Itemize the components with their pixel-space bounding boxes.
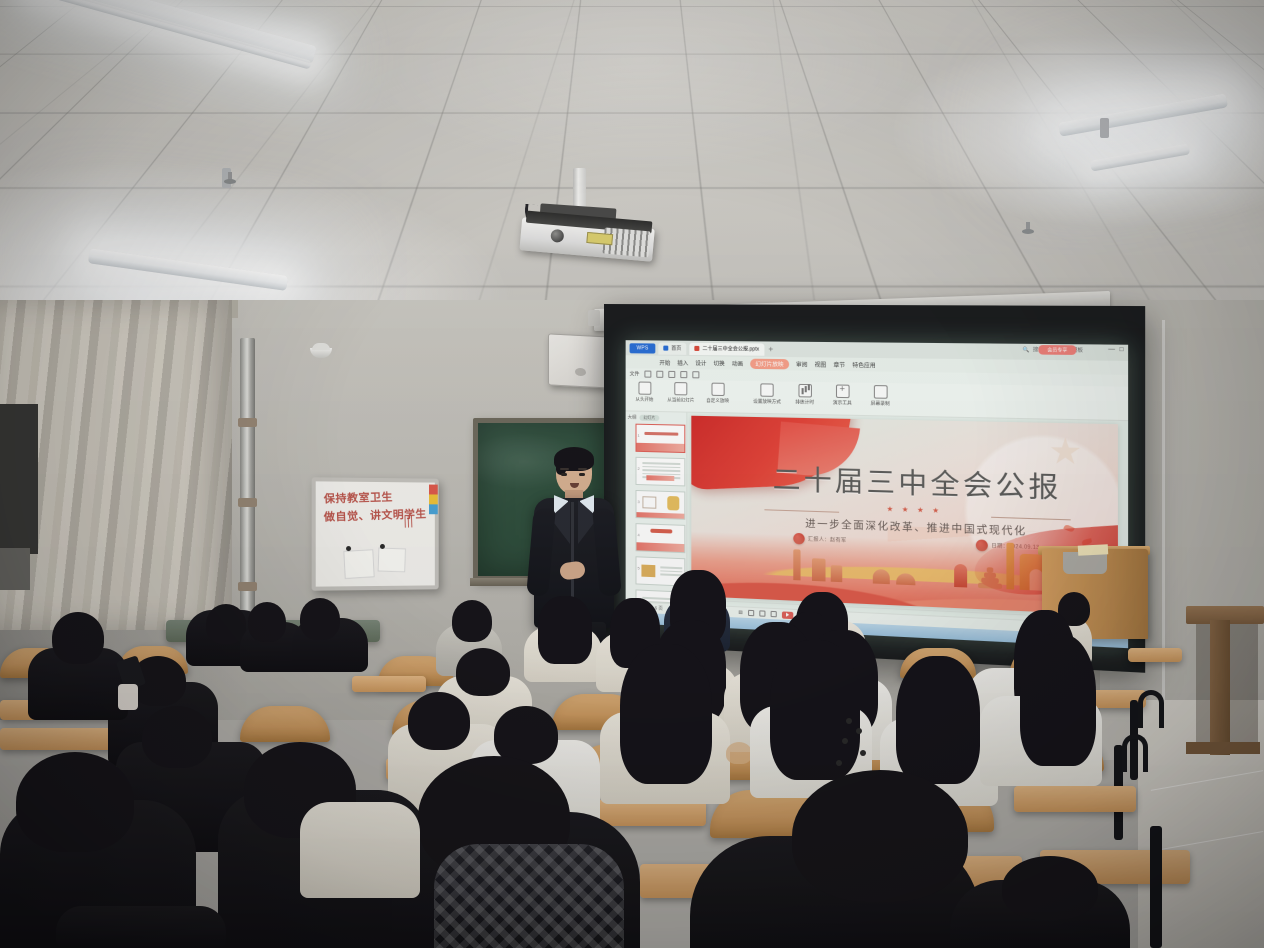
student-pattern-c1 (726, 742, 752, 764)
student-head-f7 (206, 604, 246, 644)
thumb-num-4: 4 (637, 532, 639, 537)
ribbon-play-from-start[interactable]: 从头开始 (632, 381, 658, 403)
thumb-num-5: 5 (637, 565, 639, 570)
menu-item-insert[interactable]: 插入 (677, 358, 688, 366)
projector-label (586, 232, 613, 245)
wall-panel-lower (0, 548, 30, 590)
format-painter-icon[interactable] (692, 371, 699, 378)
thumb-4-title (650, 529, 672, 534)
tab-home[interactable]: 首页 (658, 342, 686, 354)
student-hair-c3 (896, 656, 980, 784)
student-body-d6 (56, 906, 226, 948)
wps-logo: WPS (630, 343, 656, 353)
slide-monument-1 (793, 549, 800, 580)
slide-monument-4 (873, 569, 890, 584)
screen-housing-endcap (588, 310, 600, 326)
student-hand-b7 (118, 684, 138, 710)
student-head-b5 (456, 648, 510, 696)
wall-dark-panel (0, 404, 38, 554)
new-tab-button[interactable]: + (768, 345, 773, 354)
side-table-leg (1210, 620, 1230, 755)
thumb-num-2: 2 (637, 466, 639, 471)
view-reading-icon[interactable] (759, 610, 765, 616)
maximize-button[interactable]: □ (1119, 347, 1123, 353)
dome-camera-icon (310, 343, 332, 357)
quick-label: 文件 (630, 370, 640, 377)
thumbnail-slide-4[interactable]: 4 (636, 523, 686, 553)
menu-item-start[interactable]: 开始 (659, 358, 670, 366)
student-hair-c4 (1020, 634, 1096, 766)
custom-show-icon (711, 383, 724, 396)
ribbon-screen-record[interactable]: 屏幕录制 (866, 385, 894, 407)
pipe-band-icon-3 (238, 582, 257, 591)
ribbon-label-1: 从当前幻灯片 (667, 397, 694, 404)
thumb-3-banner (636, 512, 684, 519)
slides-tab[interactable]: 幻灯片 (639, 415, 659, 421)
menu-item-slideshow[interactable]: 幻灯片放映 (750, 358, 789, 369)
student-head-f8 (248, 602, 286, 642)
presenter-tools-icon (835, 384, 849, 398)
window-controls[interactable]: — □ (1108, 347, 1123, 354)
ribbon-label-6: 屏幕录制 (871, 401, 890, 408)
thumb-3-image (642, 496, 656, 509)
pipe-band-icon-1 (238, 418, 257, 427)
student-head-d5 (1002, 856, 1098, 920)
menu-item-transition[interactable]: 切换 (714, 359, 725, 367)
side-table-base (1186, 742, 1260, 754)
whiteboard-notice-1 (343, 549, 374, 579)
presenter-eye-left (561, 473, 567, 476)
desk-left-3 (352, 676, 426, 692)
menu-item-view[interactable]: 视图 (815, 360, 826, 368)
thumbnail-slide-1[interactable]: 1 (636, 424, 686, 453)
ribbon-label-2: 自定义放映 (706, 398, 729, 405)
undo-icon[interactable] (644, 371, 651, 378)
fire-sprinkler-icon-2 (1022, 222, 1034, 236)
rehearse-timing-icon (798, 384, 811, 398)
ribbon-presenter-tools[interactable]: 演示工具 (829, 384, 856, 406)
outline-tab[interactable]: 大纲 (628, 414, 637, 420)
thumb-1-title (644, 432, 678, 436)
presenter-eye-right (579, 473, 585, 476)
ribbon-rehearse-timing[interactable]: 排练计时 (791, 384, 818, 406)
seat-back-b1 (240, 706, 330, 742)
thumbnail-slide-2[interactable]: 2 (636, 457, 686, 487)
thumb-4-banner (636, 542, 684, 552)
desk-d-right (1014, 786, 1136, 812)
ribbon-setup-show[interactable]: 设置放映方式 (753, 383, 781, 405)
menu-item-animation[interactable]: 动画 (732, 359, 743, 367)
thumbnail-panel-header: 大纲 幻灯片 (628, 414, 685, 421)
menu-item-design[interactable]: 设计 (695, 359, 706, 367)
slide-thumbnail-panel[interactable]: 大纲 幻灯片 1 2 3 (626, 411, 688, 603)
presenter-brow-left (560, 468, 569, 470)
student-head-c6 (142, 706, 212, 768)
thumb-3-figure (667, 496, 679, 511)
home-icon (663, 346, 668, 351)
desk-a-right (1128, 648, 1182, 662)
student-hair-c1 (620, 644, 712, 784)
student-head-f6 (452, 600, 492, 642)
menu-item-section[interactable]: 章节 (833, 360, 845, 368)
slide-monument-2 (812, 558, 826, 581)
ribbon-label-3: 设置放映方式 (753, 399, 781, 406)
slide-title: 二十届三中全会公报 (742, 466, 1095, 504)
whiteboard: 保持教室卫生 做自觉、讲文明学生 ||| (312, 477, 439, 590)
save-icon[interactable] (668, 371, 675, 378)
student-paw-print-pattern (846, 718, 852, 724)
seat-arm-rail-c (1122, 734, 1148, 772)
menu-item-review[interactable]: 审阅 (796, 360, 807, 368)
student-head-c5 (408, 692, 470, 750)
view-sorter-icon[interactable] (748, 610, 754, 616)
student-hair-f2 (538, 596, 592, 664)
thumb-num-3: 3 (637, 499, 639, 504)
whiteboard-magnet-2 (380, 544, 385, 549)
presenter-brow-right (578, 468, 587, 470)
student-head-b7 (52, 612, 104, 664)
play-from-start-icon (638, 382, 651, 395)
minimize-button[interactable]: — (1108, 347, 1115, 354)
wall-speaker (548, 333, 612, 388)
setup-show-icon (760, 383, 773, 397)
thumbnail-slide-3[interactable]: 3 (636, 490, 686, 520)
seat-frame-leg-e (1150, 826, 1162, 948)
tab-active-document[interactable]: 二十届三中全会公报.pptx (689, 342, 764, 355)
play-current-icon (674, 382, 687, 395)
thumb-2-bar (646, 475, 675, 481)
slide-monument-6 (954, 564, 967, 588)
ribbon-custom-show[interactable]: 自定义放映 (704, 383, 730, 405)
tab-active-label: 二十届三中全会公报.pptx (702, 345, 759, 353)
ribbon-label-4: 排练计时 (795, 399, 814, 406)
search-icon: 🔍 (1023, 346, 1030, 352)
pipe-band-icon-2 (238, 498, 257, 507)
slide-monument-3 (831, 565, 843, 582)
student-head-c7 (494, 706, 558, 764)
menu-item-featured-apps[interactable]: 特色应用 (852, 360, 875, 369)
tab-home-label: 首页 (671, 345, 681, 352)
ribbon-label-0: 从头开始 (636, 397, 654, 403)
whiteboard-text-line1: 保持教室卫生 (324, 489, 432, 509)
fire-sprinkler-icon (224, 172, 236, 186)
classroom-photo: 保持教室卫生 做自觉、讲文明学生 ||| WPS 首页 (0, 0, 1264, 948)
ceiling-light-wash (0, 0, 1264, 330)
lectern-papers (1078, 544, 1108, 556)
pptx-file-icon (694, 346, 699, 351)
ribbon-play-current[interactable]: 从当前幻灯片 (667, 382, 694, 404)
screen-record-icon (873, 385, 887, 399)
whiteboard-magnet-1 (346, 546, 351, 551)
ribbon-label-5: 演示工具 (833, 400, 852, 407)
wall-corner-edge (1162, 320, 1165, 740)
student-checkered-jacket (434, 844, 624, 948)
student-head-d3 (16, 752, 134, 852)
print-icon[interactable] (680, 371, 687, 378)
student-hair-c2 (770, 640, 860, 780)
student-head-d4 (792, 770, 968, 902)
whiteboard-notice-2 (378, 548, 406, 573)
student-head-f9 (300, 598, 340, 640)
view-notes-icon[interactable] (770, 611, 776, 617)
ribbon-toolbar[interactable]: 从头开始 从当前幻灯片 自定义放映 设置放映方式 排练计时 (626, 379, 1128, 421)
slideshow-play-button[interactable] (782, 611, 793, 619)
redo-icon[interactable] (656, 371, 663, 378)
student-sleeve-cream (300, 802, 420, 898)
vip-button[interactable]: 会员专享 (1038, 345, 1076, 355)
thumb-num-1: 1 (637, 433, 639, 438)
seat-arm-rail-b (1138, 690, 1164, 728)
view-normal-icon[interactable]: ▤ (738, 609, 742, 615)
thumb-1-banner (636, 443, 684, 452)
ceiling (0, 0, 1264, 330)
light-stem-icon-2 (1100, 118, 1109, 138)
thumb-5-chart (641, 565, 655, 578)
